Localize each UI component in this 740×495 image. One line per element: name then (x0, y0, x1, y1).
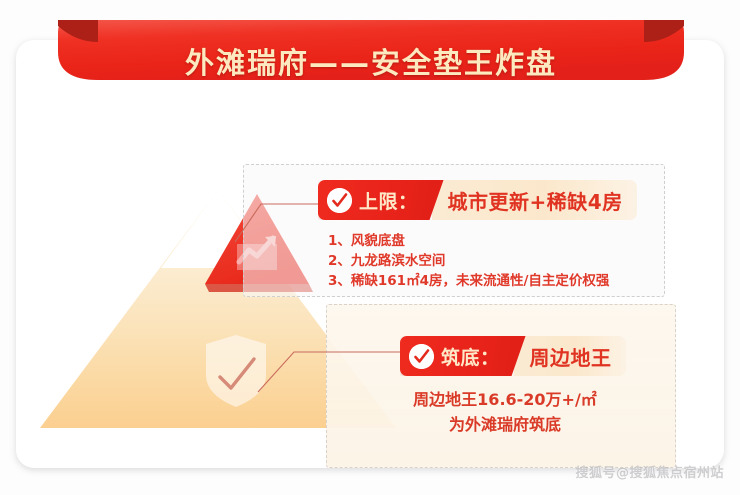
shield-check-icon (202, 333, 270, 409)
upper-bullet-list: 1、风貌底盘 2、九龙路滨水空间 3、稀缺161㎡4房，未来流通性/自主定价权强 (328, 231, 658, 291)
title-ribbon: 外滩瑞府——安全垫王炸盘 (40, 20, 702, 90)
upper-tag-value: 城市更新+稀缺4房 (448, 186, 623, 215)
lower-tag-cream: 周边地王 (514, 336, 626, 376)
upper-tag[interactable]: 上限： 城市更新+稀缺4房 (318, 180, 637, 220)
lower-note-block: 周边地王16.6-20万+/㎡ 为外滩瑞府筑底 (360, 387, 650, 437)
lower-tag-value: 周边地王 (530, 342, 612, 371)
note-line: 周边地王16.6-20万+/㎡ (360, 387, 650, 412)
check-circle-icon (327, 188, 352, 213)
upper-tag-cream: 城市更新+稀缺4房 (432, 180, 637, 220)
page-title: 外滩瑞府——安全垫王炸盘 (40, 40, 702, 82)
lower-tag[interactable]: 筑底： 周边地王 (400, 336, 626, 376)
bullet-item: 1、风貌底盘 (328, 231, 658, 251)
content-card: 上限： 城市更新+稀缺4房 1、风貌底盘 2、九龙路滨水空间 3、稀缺161㎡4… (16, 40, 724, 468)
lower-tag-red: 筑底： (400, 336, 526, 376)
check-circle-icon (409, 344, 434, 369)
bullet-item: 2、九龙路滨水空间 (328, 251, 658, 271)
watermark: 搜狐号@搜狐焦点宿州站 (524, 462, 724, 481)
upper-tag-label: 上限： (359, 187, 418, 214)
bullet-item: 3、稀缺161㎡4房，未来流通性/自主定价权强 (328, 271, 658, 291)
note-line: 为外滩瑞府筑底 (360, 412, 650, 437)
lower-tag-label: 筑底： (441, 343, 500, 370)
poster-canvas: 上限： 城市更新+稀缺4房 1、风貌底盘 2、九龙路滨水空间 3、稀缺161㎡4… (0, 0, 740, 495)
lower-group-box (326, 304, 676, 468)
upper-tag-red: 上限： (318, 180, 444, 220)
